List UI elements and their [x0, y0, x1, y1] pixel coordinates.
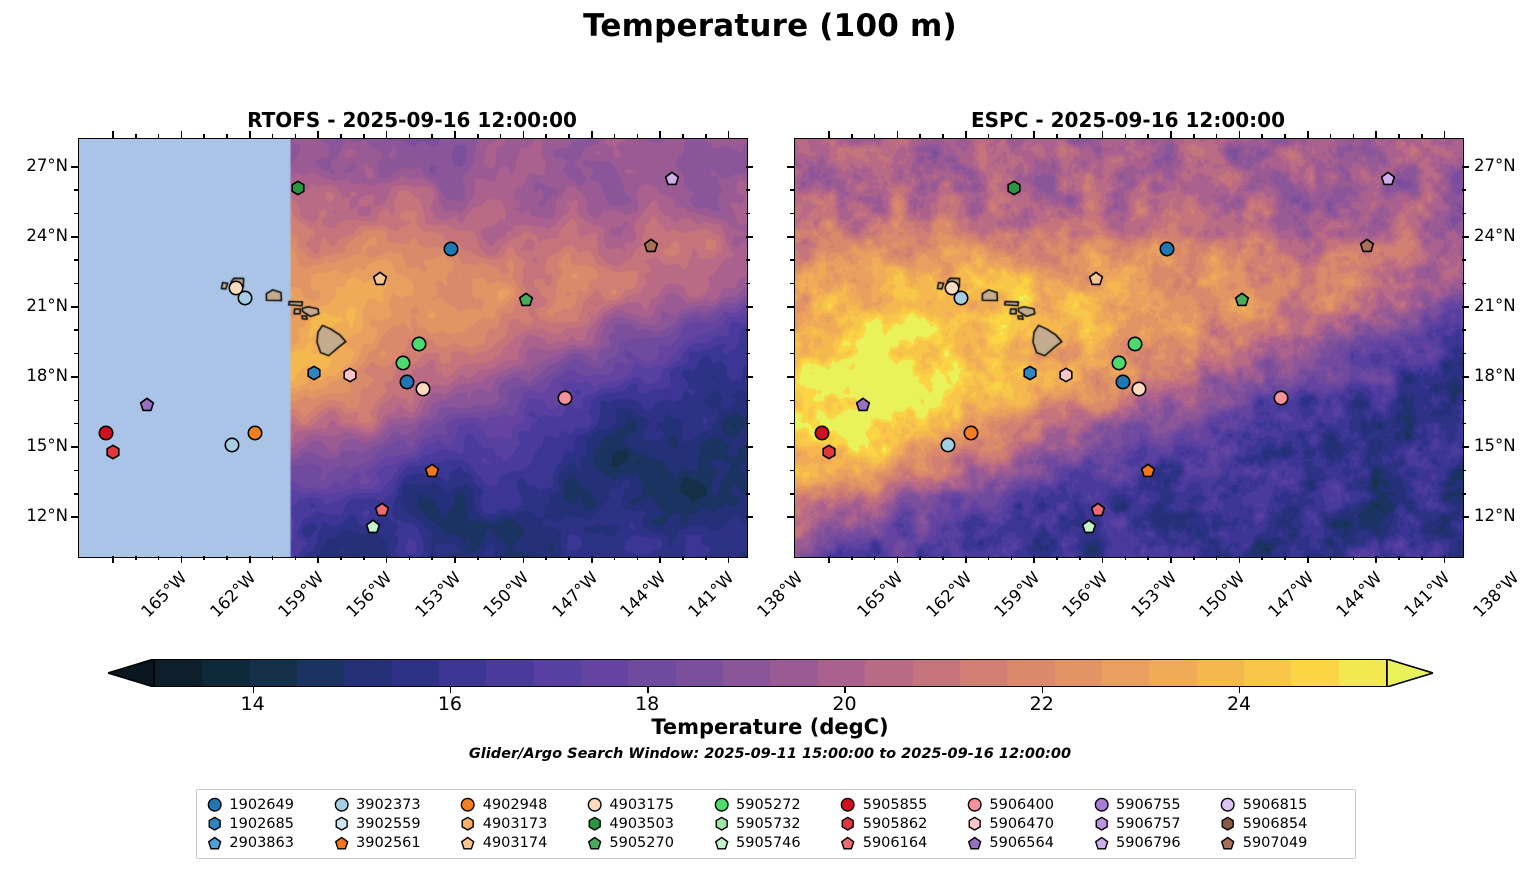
x-minor-tick [614, 556, 616, 560]
x-tick-top [1033, 131, 1035, 138]
y-minor-tick [74, 470, 78, 472]
float-marker-5907049[interactable] [1359, 238, 1376, 255]
float-marker-5906164[interactable] [1090, 502, 1107, 519]
legend-item-5906815[interactable]: 5906815 [1220, 795, 1347, 814]
legend-swatch-hexagon-icon [587, 816, 602, 831]
y-minor-tick [1462, 423, 1466, 425]
y-minor-tick [790, 353, 794, 355]
x-tick-label: 153°W [411, 568, 464, 621]
x-tick-label: 165°W [138, 568, 191, 621]
x-minor-tick [705, 134, 707, 138]
x-tick [454, 556, 456, 563]
y-tick-label: 24°N [1474, 226, 1516, 245]
colorbar-tick-label: 16 [438, 693, 462, 715]
x-tick [591, 556, 593, 563]
x-tick-top [454, 131, 456, 138]
x-tick-label: 159°W [274, 568, 327, 621]
colorbar-label: Temperature (degC) [0, 715, 1540, 739]
y-tick [71, 306, 78, 308]
x-minor-tick [500, 134, 502, 138]
y-minor-tick [74, 423, 78, 425]
x-tick [1307, 556, 1309, 563]
x-minor-tick [1421, 134, 1423, 138]
x-minor-tick [272, 134, 274, 138]
y-tick-label: 21°N [1474, 296, 1516, 315]
x-tick-label: 147°W [1264, 568, 1317, 621]
y-minor-tick [790, 400, 794, 402]
colorbar-segment [344, 660, 391, 686]
x-minor-tick [1353, 134, 1355, 138]
y-minor-tick [1462, 353, 1466, 355]
float-marker-5905862[interactable] [105, 444, 122, 461]
legend-item-4902948[interactable]: 4902948 [460, 795, 587, 814]
x-tick-label: 144°W [1332, 568, 1385, 621]
x-minor-tick [1011, 556, 1013, 560]
y-tick-label: 21°N [10, 296, 68, 315]
y-tick [71, 446, 78, 448]
y-minor-tick [746, 423, 750, 425]
x-minor-tick [1056, 134, 1058, 138]
x-minor-tick [295, 556, 297, 560]
x-minor-tick [158, 556, 160, 560]
x-tick [1444, 556, 1446, 563]
float-marker-1902649[interactable] [1115, 374, 1132, 391]
map-panel-espc[interactable] [794, 138, 1464, 558]
y-tick [787, 306, 794, 308]
x-minor-tick [682, 134, 684, 138]
float-marker-5906470[interactable] [1058, 367, 1075, 384]
x-minor-tick [1330, 556, 1332, 560]
x-tick [1239, 556, 1241, 563]
y-minor-tick [746, 259, 750, 261]
y-minor-tick [746, 493, 750, 495]
map-panel-rtofs[interactable] [78, 138, 748, 558]
legend-swatch-circle-icon [587, 797, 602, 812]
colorbar-segment [486, 660, 533, 686]
legend-item-5905746[interactable]: 5905746 [714, 834, 841, 853]
legend-item-5906854[interactable]: 5906854 [1220, 814, 1347, 833]
y-tick [1462, 516, 1469, 518]
x-minor-tick [1261, 134, 1263, 138]
colorbar-tick-label: 18 [635, 693, 659, 715]
y-tick [746, 236, 753, 238]
x-tick-top [1170, 131, 1172, 138]
x-minor-tick [431, 556, 433, 560]
float-marker-4903503[interactable] [290, 180, 307, 197]
legend-item-4903503[interactable]: 4903503 [587, 814, 714, 833]
legend-swatch-hexagon-icon [967, 816, 982, 831]
legend-swatch-pentagon-icon [587, 836, 602, 851]
colorbar-min-arrow [108, 659, 154, 687]
y-minor-tick [74, 259, 78, 261]
x-minor-tick [1284, 134, 1286, 138]
float-marker-5905746[interactable] [365, 518, 382, 535]
colorbar-segment [1149, 660, 1196, 686]
float-marker-4902948[interactable] [962, 425, 979, 442]
y-minor-tick [746, 189, 750, 191]
colorbar-segment [960, 660, 1007, 686]
legend-item-2903863[interactable]: 2903863 [207, 834, 334, 853]
y-tick [746, 306, 753, 308]
legend-swatch-hexagon-icon [1220, 816, 1235, 831]
y-tick [71, 376, 78, 378]
float-marker-5905746[interactable] [1081, 518, 1098, 535]
x-tick-label: 141°W [685, 568, 738, 621]
x-minor-tick [1079, 556, 1081, 560]
x-tick [1375, 556, 1377, 563]
y-tick [1462, 376, 1469, 378]
colorbar-segment [770, 660, 817, 686]
float-marker-5905855[interactable] [98, 425, 115, 442]
colorbar-segment [865, 660, 912, 686]
float-marker-5907049[interactable] [643, 238, 660, 255]
float-marker-5905270[interactable] [1234, 292, 1251, 309]
y-minor-tick [74, 400, 78, 402]
x-minor-tick [226, 134, 228, 138]
y-tick [787, 446, 794, 448]
x-minor-tick [1079, 134, 1081, 138]
float-marker-5905272[interactable] [1110, 355, 1127, 372]
x-tick-top [386, 131, 388, 138]
x-minor-tick [226, 556, 228, 560]
x-minor-tick [942, 556, 944, 560]
x-minor-tick [1125, 134, 1127, 138]
y-tick-label: 15°N [1474, 436, 1516, 455]
x-minor-tick [637, 134, 639, 138]
float-marker-1902649[interactable] [399, 374, 416, 391]
legend-item-3902373[interactable]: 3902373 [334, 795, 461, 814]
legend-label: 5906854 [1243, 816, 1308, 832]
x-tick-top [1375, 131, 1377, 138]
colorbar-segment [1197, 660, 1244, 686]
legend-label: 1902649 [229, 797, 294, 813]
legend-label: 5905270 [609, 835, 674, 851]
x-minor-tick [942, 134, 944, 138]
x-tick [112, 556, 114, 563]
legend-item-5906400[interactable]: 5906400 [967, 795, 1094, 814]
y-minor-tick [74, 353, 78, 355]
x-tick-top [828, 131, 830, 138]
x-minor-tick [1125, 556, 1127, 560]
colorbar-segment [250, 660, 297, 686]
x-minor-tick [988, 556, 990, 560]
y-tick [787, 376, 794, 378]
legend-label: 4903175 [609, 797, 674, 813]
legend-swatch-circle-icon [1220, 797, 1235, 812]
x-minor-tick [545, 134, 547, 138]
legend-label: 3902559 [356, 816, 421, 832]
colorbar-segment [676, 660, 723, 686]
legend-item-5906757[interactable]: 5906757 [1094, 814, 1221, 833]
float-marker-4903175[interactable] [415, 381, 432, 398]
x-minor-tick [1330, 134, 1332, 138]
legend-label: 1902685 [229, 816, 294, 832]
legend-swatch-hexagon-icon [714, 816, 729, 831]
x-tick-top [249, 131, 251, 138]
x-minor-tick [1216, 556, 1218, 560]
y-minor-tick [1462, 189, 1466, 191]
legend-swatch-pentagon-icon [1220, 836, 1235, 851]
x-tick-label: 159°W [990, 568, 1043, 621]
legend-swatch-circle-icon [1094, 797, 1109, 812]
x-tick-label: 138°W [753, 568, 806, 621]
float-marker-5906796[interactable] [1379, 170, 1396, 187]
legend-label: 5906564 [989, 835, 1054, 851]
legend-item-5905270[interactable]: 5905270 [587, 834, 714, 853]
x-minor-tick [295, 134, 297, 138]
float-marker-5905862[interactable] [821, 444, 838, 461]
legend-item-5906796[interactable]: 5906796 [1094, 834, 1221, 853]
float-marker-4903503[interactable] [1006, 180, 1023, 197]
float-marker-3902561[interactable] [424, 462, 441, 479]
float-marker-5905272[interactable] [394, 355, 411, 372]
float-marker-3902373[interactable] [953, 289, 970, 306]
x-minor-tick [637, 556, 639, 560]
legend-item-5906564[interactable]: 5906564 [967, 834, 1094, 853]
x-tick [965, 556, 967, 563]
colorbar-tick-label: 14 [241, 693, 265, 715]
x-tick [728, 556, 730, 563]
legend-label: 5906757 [1116, 816, 1181, 832]
x-minor-tick [1147, 134, 1149, 138]
legend-label: 5905855 [863, 797, 928, 813]
y-minor-tick [746, 283, 750, 285]
x-minor-tick [158, 134, 160, 138]
legend-label: 5905732 [736, 816, 801, 832]
legend-swatch-pentagon-icon [207, 836, 222, 851]
float-marker-3902373[interactable] [939, 437, 956, 454]
x-minor-tick [477, 556, 479, 560]
y-minor-tick [1462, 329, 1466, 331]
float-marker-5906564[interactable] [855, 397, 872, 414]
x-tick [1170, 556, 1172, 563]
legend-swatch-pentagon-icon [1094, 836, 1109, 851]
x-tick-label: 138°W [1469, 568, 1522, 621]
legend-label: 5907049 [1243, 835, 1308, 851]
y-tick-label: 27°N [10, 156, 68, 175]
x-tick-label: 144°W [616, 568, 669, 621]
x-minor-tick [1284, 556, 1286, 560]
y-tick-label: 15°N [10, 436, 68, 455]
legend-label: 5905862 [863, 816, 928, 832]
x-minor-tick [851, 134, 853, 138]
x-tick-top [1444, 131, 1446, 138]
colorbar-segment [1102, 660, 1149, 686]
colorbar-tick-label: 20 [832, 693, 856, 715]
legend-label: 5906796 [1116, 835, 1181, 851]
y-minor-tick [1462, 259, 1466, 261]
legend-item-3902559[interactable]: 3902559 [334, 814, 461, 833]
x-tick-label: 141°W [1401, 568, 1454, 621]
float-marker-1902685[interactable] [306, 364, 323, 381]
y-tick-label: 18°N [10, 366, 68, 385]
float-marker-5906400[interactable] [1272, 390, 1289, 407]
figure-title: Temperature (100 m) [0, 8, 1540, 44]
x-tick [317, 556, 319, 563]
y-minor-tick [790, 283, 794, 285]
float-marker-1902685[interactable] [1022, 364, 1039, 381]
x-tick-top [1307, 131, 1309, 138]
x-minor-tick [1193, 556, 1195, 560]
legend-item-3902561[interactable]: 3902561 [334, 834, 461, 853]
float-marker-1902649[interactable] [1158, 240, 1175, 257]
float-marker-5905272[interactable] [410, 336, 427, 353]
float-marker-1902649[interactable] [442, 240, 459, 257]
legend-swatch-pentagon-icon [460, 836, 475, 851]
x-minor-tick [1421, 556, 1423, 560]
x-minor-tick [363, 556, 365, 560]
legend-swatch-circle-icon [207, 797, 222, 812]
x-minor-tick [568, 134, 570, 138]
float-marker-4903174[interactable] [372, 271, 389, 288]
legend-swatch-hexagon-icon [460, 816, 475, 831]
y-minor-tick [1462, 493, 1466, 495]
float-marker-5906564[interactable] [139, 397, 156, 414]
x-tick [523, 556, 525, 563]
x-minor-tick [874, 556, 876, 560]
legend-item-4903175[interactable]: 4903175 [587, 795, 714, 814]
search-window-caption: Glider/Argo Search Window: 2025-09-11 15… [0, 746, 1540, 762]
legend-item-4903174[interactable]: 4903174 [460, 834, 587, 853]
float-marker-5906164[interactable] [374, 502, 391, 519]
colorbar-segment [297, 660, 344, 686]
x-minor-tick [340, 134, 342, 138]
x-minor-tick [340, 556, 342, 560]
legend-swatch-circle-icon [714, 797, 729, 812]
x-tick [386, 556, 388, 563]
float-marker-3902373[interactable] [237, 289, 254, 306]
x-tick-top [523, 131, 525, 138]
y-minor-tick [74, 283, 78, 285]
panel-title-rtofs: RTOFS - 2025-09-16 12:00:00 [78, 108, 746, 132]
x-minor-tick [988, 134, 990, 138]
float-marker-5905855[interactable] [814, 425, 831, 442]
y-tick [1462, 446, 1469, 448]
y-tick [746, 446, 753, 448]
x-tick-top [1239, 131, 1241, 138]
x-minor-tick [1261, 556, 1263, 560]
legend-label: 5906400 [989, 797, 1054, 813]
x-minor-tick [409, 134, 411, 138]
y-minor-tick [790, 189, 794, 191]
x-tick-label: 150°W [1196, 568, 1249, 621]
y-minor-tick [790, 259, 794, 261]
y-tick-label: 12°N [1474, 506, 1516, 525]
float-marker-5906796[interactable] [663, 170, 680, 187]
x-minor-tick [1056, 556, 1058, 560]
legend-label: 5906164 [863, 835, 928, 851]
colorbar-tick-label: 24 [1227, 693, 1251, 715]
x-minor-tick [1398, 556, 1400, 560]
float-marker-3902373[interactable] [223, 437, 240, 454]
legend-item-5906755[interactable]: 5906755 [1094, 795, 1221, 814]
x-tick-top [897, 131, 899, 138]
legend-label: 5905746 [736, 835, 801, 851]
legend-swatch-pentagon-icon [334, 836, 349, 851]
x-minor-tick [1011, 134, 1013, 138]
x-tick-top [317, 131, 319, 138]
float-marker-5906400[interactable] [556, 390, 573, 407]
float-marker-3902561[interactable] [1140, 462, 1157, 479]
x-minor-tick [431, 134, 433, 138]
float-marker-4903174[interactable] [1088, 271, 1105, 288]
x-tick-label: 156°W [343, 568, 396, 621]
colorbar-segment [534, 660, 581, 686]
y-minor-tick [1462, 213, 1466, 215]
float-marker-4902948[interactable] [246, 425, 263, 442]
float-marker-4903175[interactable] [1131, 381, 1148, 398]
legend-label: 4903173 [483, 816, 548, 832]
x-minor-tick [545, 556, 547, 560]
y-minor-tick [1462, 283, 1466, 285]
x-tick-top [728, 131, 730, 138]
x-minor-tick [851, 556, 853, 560]
y-tick [787, 236, 794, 238]
y-minor-tick [1462, 470, 1466, 472]
x-tick-label: 165°W [854, 568, 907, 621]
x-tick-label: 150°W [480, 568, 533, 621]
x-tick-top [965, 131, 967, 138]
legend-item-5905732[interactable]: 5905732 [714, 814, 841, 833]
legend-swatch-pentagon-icon [714, 836, 729, 851]
legend-item-5905862[interactable]: 5905862 [840, 814, 967, 833]
x-minor-tick [919, 134, 921, 138]
x-minor-tick [1398, 134, 1400, 138]
y-tick [71, 236, 78, 238]
float-marker-5905272[interactable] [1126, 336, 1143, 353]
float-marker-5906470[interactable] [342, 367, 359, 384]
legend-label: 3902373 [356, 797, 421, 813]
legend-label: 5906470 [989, 816, 1054, 832]
legend-swatch-pentagon-icon [967, 836, 982, 851]
colorbar-gradient [154, 659, 1387, 687]
x-minor-tick [363, 134, 365, 138]
panel-title-espc: ESPC - 2025-09-16 12:00:00 [794, 108, 1462, 132]
y-minor-tick [74, 213, 78, 215]
legend-item-5906164[interactable]: 5906164 [840, 834, 967, 853]
colorbar-segment [1007, 660, 1054, 686]
colorbar-segment [913, 660, 960, 686]
legend-item-5905855[interactable]: 5905855 [840, 795, 967, 814]
colorbar-segment [723, 660, 770, 686]
y-minor-tick [746, 329, 750, 331]
legend-item-4903173[interactable]: 4903173 [460, 814, 587, 833]
colorbar-segment [439, 660, 486, 686]
legend-item-5906470[interactable]: 5906470 [967, 814, 1094, 833]
legend-swatch-circle-icon [334, 797, 349, 812]
legend-item-5907049[interactable]: 5907049 [1220, 834, 1347, 853]
y-minor-tick [790, 423, 794, 425]
legend-swatch-hexagon-icon [207, 816, 222, 831]
x-tick-top [1102, 131, 1104, 138]
float-marker-5905270[interactable] [518, 292, 535, 309]
legend-swatch-hexagon-icon [1094, 816, 1109, 831]
y-tick [1462, 166, 1469, 168]
legend-item-1902649[interactable]: 1902649 [207, 795, 334, 814]
legend-swatch-hexagon-icon [334, 816, 349, 831]
y-tick-label: 18°N [1474, 366, 1516, 385]
x-tick-top [112, 131, 114, 138]
legend-label: 4902948 [483, 797, 548, 813]
colorbar-segment [818, 660, 865, 686]
legend-item-5905272[interactable]: 5905272 [714, 795, 841, 814]
colorbar: 141618202224 [108, 659, 1433, 689]
y-tick [1462, 236, 1469, 238]
x-minor-tick [705, 556, 707, 560]
x-minor-tick [919, 556, 921, 560]
legend-item-1902685[interactable]: 1902685 [207, 814, 334, 833]
colorbar-segment [1291, 660, 1338, 686]
